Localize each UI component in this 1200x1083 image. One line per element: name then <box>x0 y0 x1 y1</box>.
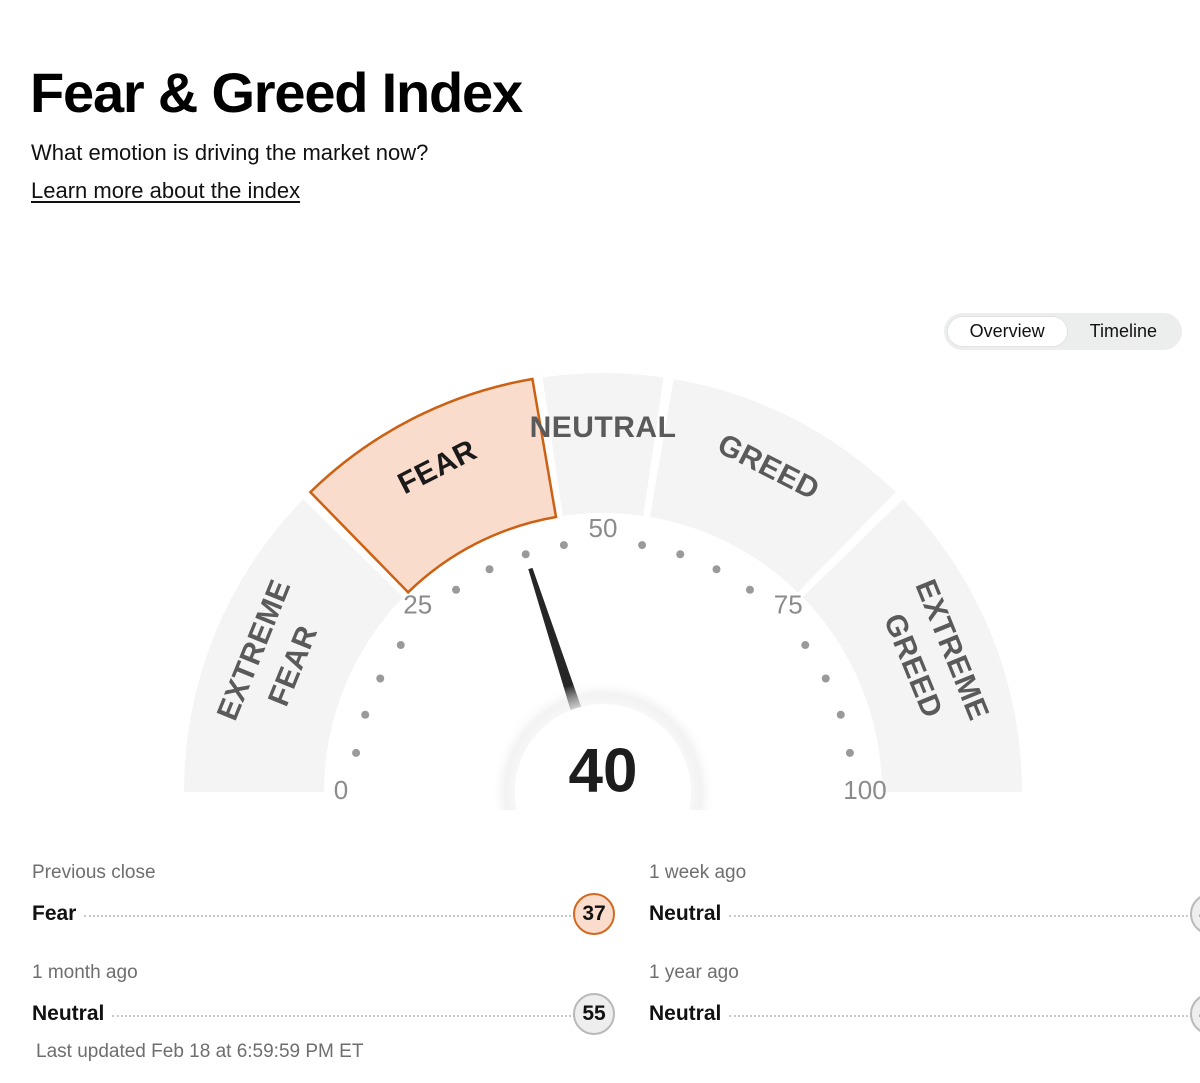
fear-greed-index-page: Fear & Greed Index What emotion is drivi… <box>0 0 1200 1083</box>
stat-badge: 55 <box>573 993 615 1035</box>
stats-grid: Previous close Fear 37 1 week ago Neutra… <box>0 852 1200 1052</box>
tick-dot <box>522 550 530 558</box>
stat-card: 1 year ago Neutral 46 <box>649 952 1200 1052</box>
segment-label: NEUTRAL <box>530 411 677 444</box>
gauge-svg: EXTREMEFEARFEARNEUTRALGREEDEXTREMEGREED … <box>0 360 1200 810</box>
tick-dot <box>837 711 845 719</box>
tick-dot <box>452 586 460 594</box>
last-updated: Last updated Feb 18 at 6:59:59 PM ET <box>36 1041 363 1063</box>
leader-line <box>729 1015 1192 1017</box>
page-subtitle: What emotion is driving the market now? <box>31 140 428 166</box>
stat-card: 1 month ago Neutral 55 <box>32 952 615 1052</box>
scale-label: 0 <box>334 775 348 805</box>
tick-dot <box>638 541 646 549</box>
scale-label: 50 <box>589 513 618 543</box>
leader-line <box>112 1015 575 1017</box>
learn-more-link[interactable]: Learn more about the index <box>31 178 300 204</box>
tick-dot <box>801 641 809 649</box>
tick-dot <box>361 711 369 719</box>
tick-dot <box>376 675 384 683</box>
tick-dot <box>676 550 684 558</box>
stat-sentiment: Fear <box>32 902 84 926</box>
stat-sentiment: Neutral <box>649 902 729 926</box>
tick-dot <box>486 565 494 573</box>
gauge-value: 40 <box>569 736 638 805</box>
page-title: Fear & Greed Index <box>30 62 522 124</box>
scale-label: 100 <box>843 775 886 805</box>
tick-dot <box>712 565 720 573</box>
scale-label: 75 <box>774 590 803 620</box>
stat-badge: 46 <box>1190 993 1200 1035</box>
fear-greed-gauge: EXTREMEFEARFEARNEUTRALGREEDEXTREMEGREED … <box>0 360 1200 810</box>
stat-sentiment: Neutral <box>649 1002 729 1026</box>
tick-dot <box>560 541 568 549</box>
scale-label: 25 <box>403 590 432 620</box>
stat-sentiment: Neutral <box>32 1002 112 1026</box>
gauge-segment-neutral <box>543 373 664 516</box>
leader-line <box>729 915 1192 917</box>
leader-line <box>84 915 575 917</box>
stat-period: 1 year ago <box>649 962 1200 985</box>
tick-dot <box>352 749 360 757</box>
stat-badge: 48 <box>1190 893 1200 935</box>
tab-timeline[interactable]: Timeline <box>1068 316 1179 347</box>
tick-dot <box>822 675 830 683</box>
tick-dot <box>846 749 854 757</box>
stat-card: Previous close Fear 37 <box>32 852 615 952</box>
tick-dot <box>397 641 405 649</box>
stat-badge: 37 <box>573 893 615 935</box>
stat-period: Previous close <box>32 862 615 885</box>
stat-period: 1 week ago <box>649 862 1200 885</box>
view-toggle[interactable]: Overview Timeline <box>944 313 1182 350</box>
tab-overview[interactable]: Overview <box>947 316 1068 347</box>
stat-card: 1 week ago Neutral 48 <box>649 852 1200 952</box>
stat-period: 1 month ago <box>32 962 615 985</box>
tick-dot <box>746 586 754 594</box>
